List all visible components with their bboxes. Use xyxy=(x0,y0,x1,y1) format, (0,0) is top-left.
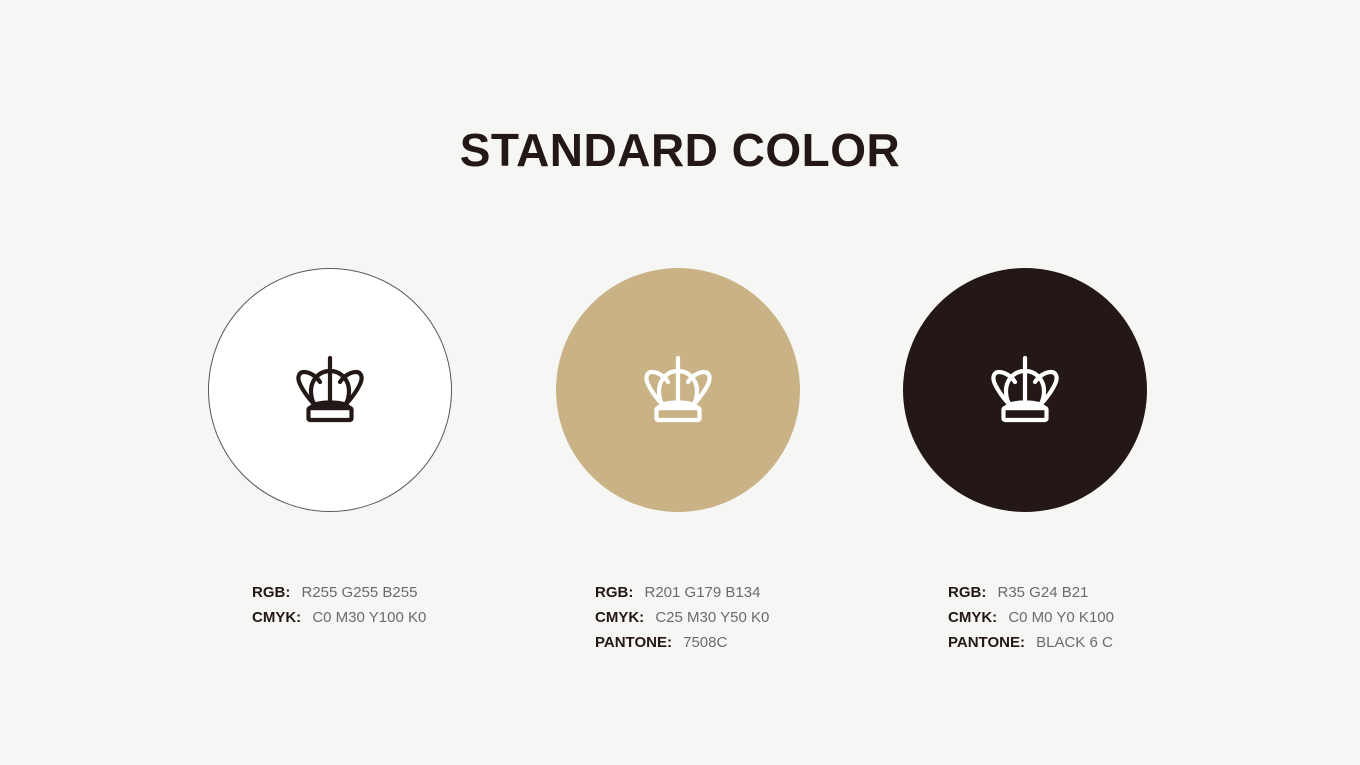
spec-value-rgb: R35 G24 B21 xyxy=(998,584,1089,601)
crown-icon xyxy=(626,354,730,426)
spec-label-cmyk: CMYK: xyxy=(948,609,997,626)
color-swatch-black: RGB: R35 G24 B21 CMYK: C0 M0 Y0 K100 PAN… xyxy=(852,268,1198,512)
spec-label-rgb: RGB: xyxy=(595,584,633,601)
spec-row-cmyk: CMYK: C0 M0 Y0 K100 xyxy=(948,605,1294,630)
spec-label-pantone: PANTONE: xyxy=(948,634,1025,651)
spec-value-pantone: BLACK 6 C xyxy=(1036,634,1113,651)
spec-label-pantone: PANTONE: xyxy=(595,634,672,651)
swatch-circle-white xyxy=(208,268,452,512)
spec-value-rgb: R201 G179 B134 xyxy=(645,584,761,601)
spec-value-cmyk: C25 M30 Y50 K0 xyxy=(655,609,769,626)
swatch-circle-black xyxy=(903,268,1147,512)
spec-row-pantone: PANTONE: BLACK 6 C xyxy=(948,630,1294,655)
spec-label-cmyk: CMYK: xyxy=(595,609,644,626)
spec-value-rgb: R255 G255 B255 xyxy=(302,584,418,601)
spec-value-cmyk: C0 M0 Y0 K100 xyxy=(1008,609,1114,626)
crown-icon xyxy=(278,354,382,426)
color-swatch-gold: RGB: R201 G179 B134 CMYK: C25 M30 Y50 K0… xyxy=(505,268,851,512)
swatch-specs-black: RGB: R35 G24 B21 CMYK: C0 M0 Y0 K100 PAN… xyxy=(852,580,1294,655)
spec-label-cmyk: CMYK: xyxy=(252,609,301,626)
spec-label-rgb: RGB: xyxy=(948,584,986,601)
page-title: STANDARD COLOR xyxy=(0,122,1360,178)
spec-label-rgb: RGB: xyxy=(252,584,290,601)
spec-row-rgb: RGB: R35 G24 B21 xyxy=(948,580,1294,605)
swatch-circle-gold xyxy=(556,268,800,512)
standard-color-page: STANDARD COLOR RGB: xyxy=(0,0,1360,765)
color-swatch-white: RGB: R255 G255 B255 CMYK: C0 M30 Y100 K0 xyxy=(157,268,503,512)
spec-value-pantone: 7508C xyxy=(683,634,727,651)
color-swatch-row: RGB: R255 G255 B255 CMYK: C0 M30 Y100 K0 xyxy=(0,268,1360,688)
crown-icon xyxy=(973,354,1077,426)
spec-value-cmyk: C0 M30 Y100 K0 xyxy=(312,609,426,626)
